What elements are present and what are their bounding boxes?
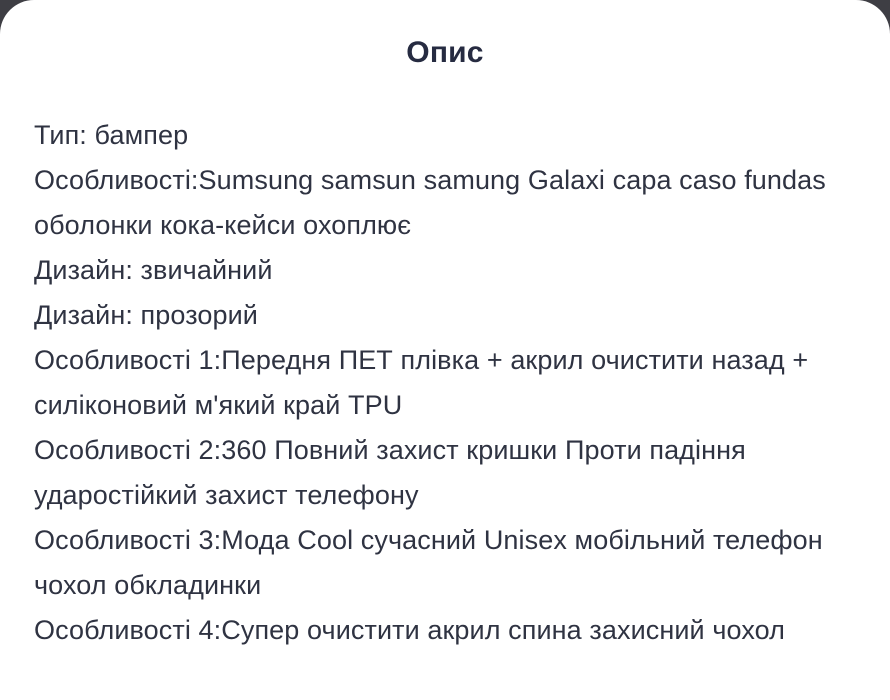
description-line: Особливості 2:360 Повний захист кришки П…: [34, 428, 834, 518]
description-line: Особливості 1:Передня ПЕТ плівка + акрил…: [34, 338, 834, 428]
description-line: Дизайн: прозорий: [34, 293, 834, 338]
description-line: Особливості:Sumsung samsun samung Galaxi…: [34, 158, 834, 248]
screen-root: Опис Тип: бампер Особливості:Sumsung sam…: [0, 0, 890, 700]
description-text-block: Тип: бампер Особливості:Sumsung samsun s…: [34, 113, 834, 653]
description-line: Дизайн: звичайний: [34, 248, 834, 293]
description-line: Особливості 3:Мода Cool сучасний Unisex …: [34, 518, 834, 608]
description-card: Опис Тип: бампер Особливості:Sumsung sam…: [0, 0, 890, 700]
description-line: Особливості 4:Супер очистити акрил спина…: [34, 608, 834, 653]
description-line: Тип: бампер: [34, 113, 834, 158]
page-title: Опис: [0, 34, 890, 72]
